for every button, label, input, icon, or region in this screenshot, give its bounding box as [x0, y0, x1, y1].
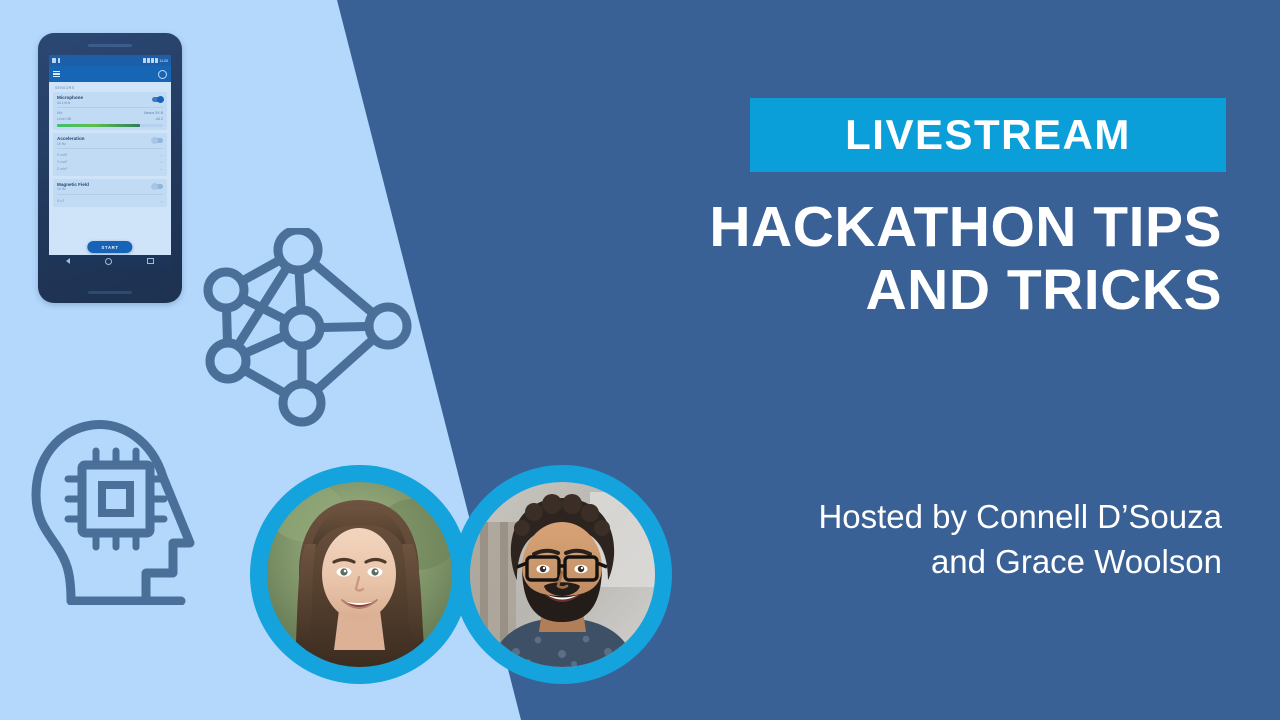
- magnetic-field-x-value: —: [159, 199, 163, 203]
- microphone-toggle[interactable]: [152, 97, 163, 102]
- acceleration-x-row: X m/s² —: [57, 152, 163, 159]
- acceleration-x-key: X m/s²: [57, 153, 67, 157]
- acceleration-subtitle: 10 Hz: [57, 142, 85, 146]
- card-divider: [57, 107, 163, 108]
- status-bar-right-icons: 11:20: [143, 58, 168, 63]
- phone-mockup: 11:20 SENSORS Microphone 44.1 kHz: [38, 33, 182, 303]
- status-bar-clock: 11:20: [159, 58, 168, 63]
- home-icon[interactable]: [105, 258, 112, 265]
- status-bar-left-icons: [52, 58, 60, 63]
- microphone-level-row: Level dB -44.2: [57, 117, 163, 121]
- livestream-badge: LIVESTREAM: [750, 98, 1226, 172]
- recents-icon[interactable]: [147, 258, 154, 265]
- android-navigation-bar: [49, 255, 171, 267]
- magnetic-field-x-row: X uT —: [57, 197, 163, 204]
- acceleration-title: Acceleration: [57, 136, 85, 141]
- page-title: HACKATHON TIPS AND TRICKS: [602, 196, 1222, 321]
- magnetic-field-title: Magnetic Field: [57, 182, 89, 187]
- acceleration-y-value: —: [159, 160, 163, 164]
- acceleration-x-value: —: [159, 153, 163, 157]
- magnetic-field-subtitle: 10 Hz: [57, 187, 89, 191]
- head-with-microchip-icon: [30, 415, 218, 605]
- phone-screen: 11:20 SENSORS Microphone 44.1 kHz: [49, 55, 171, 267]
- livestream-badge-label: LIVESTREAM: [845, 111, 1131, 159]
- microphone-device-key: Mic: [57, 111, 63, 115]
- microphone-level-key: Level dB: [57, 117, 71, 121]
- magnetic-field-x-key: X uT: [57, 199, 65, 203]
- microphone-level-value: -44.2: [155, 117, 163, 121]
- microphone-device-value: Nexus 5X B: [144, 111, 163, 115]
- acceleration-z-value: —: [159, 167, 163, 171]
- phone-earpiece-speaker: [88, 44, 132, 47]
- acceleration-header-row: Acceleration 10 Hz: [57, 136, 163, 146]
- acceleration-y-row: Y m/s² —: [57, 159, 163, 166]
- sensor-list: SENSORS Microphone 44.1 kHz Mic Nexus 5X…: [49, 82, 171, 267]
- microphone-header-row: Microphone 44.1 kHz: [57, 95, 163, 105]
- magnetic-field-toggle[interactable]: [152, 184, 163, 189]
- battery-status-icon: [155, 58, 158, 63]
- hosts-line-1: Hosted by Connell D’Souza: [602, 495, 1222, 540]
- mic-status-icon: [52, 58, 56, 63]
- acceleration-y-key: Y m/s²: [57, 160, 67, 164]
- page-title-line-1: HACKATHON TIPS: [602, 196, 1222, 259]
- microphone-subtitle: 44.1 kHz: [57, 101, 83, 105]
- app-toolbar: [49, 66, 171, 82]
- record-icon[interactable]: [158, 70, 167, 79]
- acceleration-z-key: Z m/s²: [57, 167, 67, 171]
- bluetooth-status-icon: [143, 58, 146, 63]
- avatar-photo: [267, 482, 452, 667]
- android-status-bar: 11:20: [49, 55, 171, 66]
- title-card-canvas: 11:20 SENSORS Microphone 44.1 kHz: [0, 0, 1280, 720]
- hamburger-icon[interactable]: [53, 71, 60, 78]
- notification-status-icon: [58, 58, 61, 63]
- acceleration-z-row: Z m/s² —: [57, 166, 163, 173]
- microphone-title: Microphone: [57, 95, 83, 100]
- sensor-card-microphone[interactable]: Microphone 44.1 kHz Mic Nexus 5X B Level…: [53, 92, 167, 130]
- acceleration-toggle[interactable]: [152, 138, 163, 143]
- phone-chin-accent: [88, 291, 132, 294]
- signal-status-icon: [151, 58, 154, 63]
- wifi-status-icon: [147, 58, 150, 63]
- microphone-level-meter-fill: [57, 124, 140, 127]
- card-divider: [57, 148, 163, 149]
- microphone-level-meter-track: [57, 124, 163, 127]
- neural-network-icon: [198, 228, 418, 428]
- hosts-credit: Hosted by Connell D’Souza and Grace Wool…: [602, 495, 1222, 584]
- microphone-device-row: Mic Nexus 5X B: [57, 111, 163, 115]
- avatar-grace-woolson: [250, 465, 469, 684]
- sensor-card-acceleration[interactable]: Acceleration 10 Hz X m/s² — Y m/s² —: [53, 133, 167, 176]
- page-title-line-2: AND TRICKS: [602, 259, 1222, 322]
- start-button[interactable]: START: [87, 241, 132, 253]
- sensor-card-magnetic-field[interactable]: Magnetic Field 10 Hz X uT —: [53, 179, 167, 208]
- sensors-section-label: SENSORS: [53, 85, 167, 92]
- back-icon[interactable]: [66, 258, 70, 264]
- card-divider: [57, 194, 163, 195]
- magnetic-field-header-row: Magnetic Field 10 Hz: [57, 182, 163, 192]
- hosts-line-2: and Grace Woolson: [602, 540, 1222, 585]
